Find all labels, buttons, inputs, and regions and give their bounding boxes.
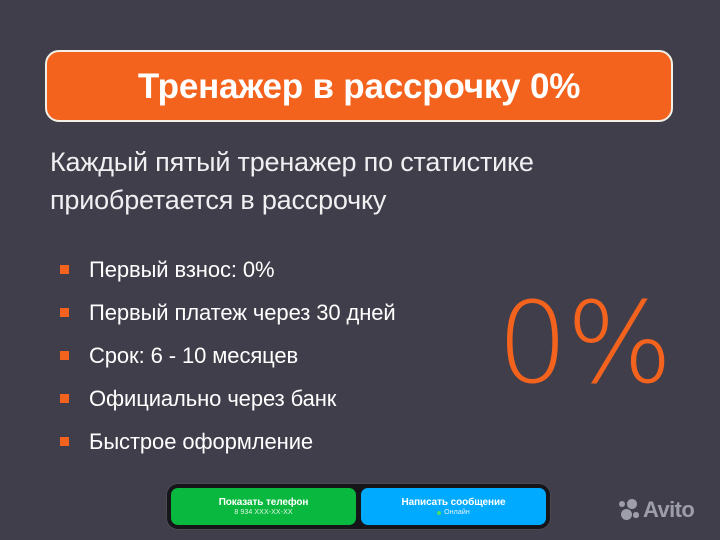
list-item: Первый платеж через 30 дней	[60, 291, 396, 334]
list-item: Первый взнос: 0%	[60, 248, 396, 291]
list-item-label: Первый платеж через 30 дней	[89, 300, 396, 326]
list-item: Официально через банк	[60, 377, 396, 420]
contact-widget: Показать телефон 8 934 XXX-XX-XX Написат…	[166, 483, 551, 530]
avito-dot-3	[621, 509, 632, 520]
avito-wordmark: Avito	[643, 499, 694, 521]
list-item-label: Быстрое оформление	[89, 429, 313, 455]
phone-number: 8 934 XXX-XX-XX	[234, 509, 292, 516]
online-status-badge: Онлайн	[437, 509, 470, 516]
send-message-button[interactable]: Написать сообщение Онлайн	[361, 488, 546, 525]
show-phone-label: Показать телефон	[219, 497, 309, 508]
subtitle-line-2: приобретается в рассрочку	[50, 181, 680, 219]
send-message-label: Написать сообщение	[402, 497, 506, 508]
bullet-square-icon	[60, 265, 69, 274]
benefits-list: Первый взнос: 0% Первый платеж через 30 …	[60, 248, 396, 463]
list-item: Быстрое оформление	[60, 420, 396, 463]
subtitle-line-1: Каждый пятый тренажер по статистике	[50, 143, 680, 181]
promo-title-banner: Тренажер в рассрочку 0%	[45, 50, 673, 122]
show-phone-button[interactable]: Показать телефон 8 934 XXX-XX-XX	[171, 488, 356, 525]
avito-dot-4	[633, 512, 639, 518]
page-title: Тренажер в рассрочку 0%	[138, 69, 580, 104]
list-item-label: Официально через банк	[89, 386, 336, 412]
big-percent-decoration: 0%	[497, 288, 671, 400]
avito-dot-1	[627, 499, 637, 509]
bullet-square-icon	[60, 437, 69, 446]
promo-subtitle: Каждый пятый тренажер по статистике прио…	[50, 143, 680, 219]
list-item: Срок: 6 - 10 месяцев	[60, 334, 396, 377]
online-dot-icon	[437, 511, 441, 515]
list-item-label: Первый взнос: 0%	[89, 257, 275, 283]
avito-dots-icon	[617, 499, 639, 521]
avito-logo: Avito	[617, 499, 694, 521]
bullet-square-icon	[60, 308, 69, 317]
list-item-label: Срок: 6 - 10 месяцев	[89, 343, 298, 369]
contact-widget-inner: Показать телефон 8 934 XXX-XX-XX Написат…	[167, 484, 550, 529]
bullet-square-icon	[60, 351, 69, 360]
online-status-label: Онлайн	[444, 509, 470, 516]
avito-dot-2	[619, 501, 625, 507]
bullet-square-icon	[60, 394, 69, 403]
